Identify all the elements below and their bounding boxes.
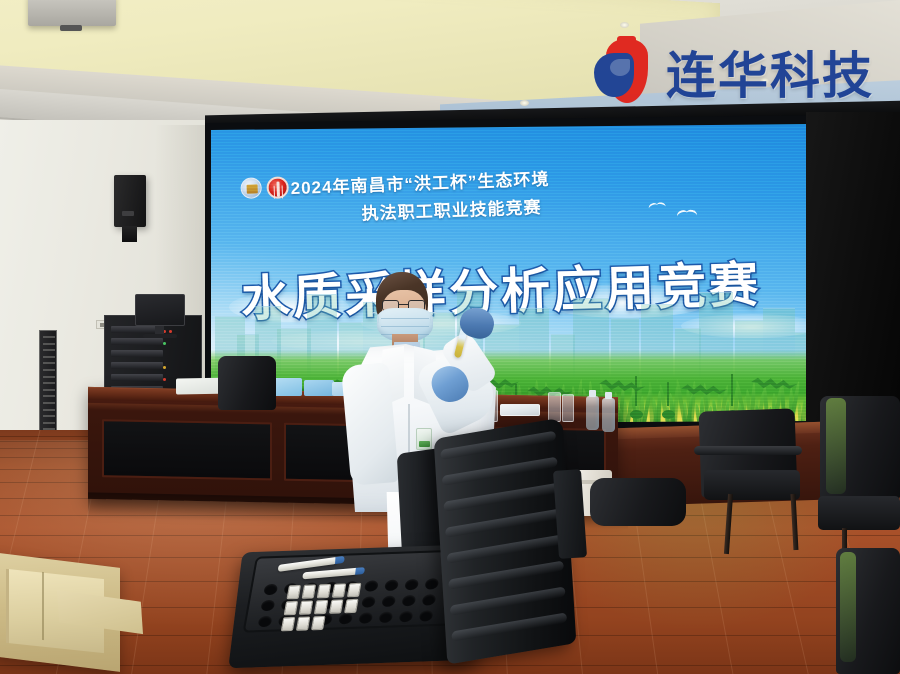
chair-seat xyxy=(704,470,800,500)
downlight-icon xyxy=(620,22,629,28)
screen-header-block: 2024年南昌市“洪工杯”生态环境 执法职工职业技能竞赛 xyxy=(232,156,794,229)
vent-slat xyxy=(43,369,55,371)
lid-rib xyxy=(443,483,559,512)
foam-slot xyxy=(384,580,399,591)
cardboard-box-crease xyxy=(42,572,44,640)
case-foam-insert xyxy=(243,549,470,632)
vent-slat xyxy=(43,362,55,364)
foam-slot xyxy=(258,616,273,627)
sample-vial[interactable] xyxy=(344,599,359,613)
foam-slot xyxy=(401,595,416,606)
right-dark-curtain xyxy=(806,112,900,442)
foam-slot xyxy=(364,580,379,591)
sample-vial[interactable] xyxy=(332,583,347,597)
chair-green-reflection xyxy=(840,552,856,662)
mask-strap xyxy=(370,312,379,327)
water-bottle xyxy=(602,398,615,432)
ceiling-projector xyxy=(28,0,116,26)
chair-seat xyxy=(818,496,900,530)
vent-slat xyxy=(43,343,55,345)
sample-vial[interactable] xyxy=(284,601,299,615)
foam-slot xyxy=(419,610,434,621)
plant-stem xyxy=(667,382,669,406)
watermark-logo: 连华科技 xyxy=(592,34,892,110)
pipette-tip xyxy=(355,567,365,575)
sample-vial[interactable] xyxy=(311,616,326,630)
vent-slat xyxy=(43,382,55,384)
plant-head xyxy=(662,410,675,419)
sample-vial[interactable] xyxy=(299,600,314,614)
podium-panel xyxy=(102,419,272,480)
wall-speaker xyxy=(114,175,146,227)
rack-unit xyxy=(111,362,163,369)
rack-unit xyxy=(111,338,163,345)
vent-slat xyxy=(43,389,55,391)
foam-slot xyxy=(263,584,278,595)
pipette[interactable] xyxy=(302,568,358,580)
lid-rib xyxy=(445,509,561,538)
vent-slat xyxy=(43,356,55,358)
sample-vial[interactable] xyxy=(296,616,311,630)
sample-vial[interactable] xyxy=(281,617,296,631)
chair-green-reflection xyxy=(826,398,846,494)
mask-strap xyxy=(430,312,439,327)
chair-back xyxy=(218,356,276,410)
glasses-bridge xyxy=(399,304,408,305)
foam-slot xyxy=(378,612,393,623)
vent-slat xyxy=(43,402,55,404)
watermark-brand-text: 连华科技 xyxy=(666,36,874,108)
foam-slot xyxy=(398,611,413,622)
rack-led-icon xyxy=(163,378,166,381)
foam-slot xyxy=(338,613,353,624)
speaker-bracket xyxy=(122,226,137,242)
monitor-base xyxy=(143,334,177,338)
foam-slot xyxy=(381,596,396,607)
foam-slot xyxy=(361,596,376,607)
plant-head xyxy=(630,410,643,419)
lid-rib xyxy=(440,431,556,460)
vent-slat xyxy=(43,349,55,351)
lianhua-flask-logo-icon xyxy=(592,39,656,105)
swirl-shape xyxy=(594,53,634,97)
rack-unit xyxy=(111,374,163,381)
lid-rib xyxy=(447,535,563,564)
av-monitor xyxy=(135,294,185,326)
lab-glassware xyxy=(562,394,574,422)
chair-back xyxy=(590,478,686,526)
lid-rib xyxy=(442,457,558,486)
rack-led-icon xyxy=(163,342,166,345)
pipette-tip xyxy=(335,556,345,564)
chair-armrest xyxy=(694,446,802,455)
plant-stem xyxy=(731,374,733,406)
vent-slat xyxy=(43,376,55,378)
vent-slat xyxy=(43,336,55,338)
plant-stem xyxy=(635,376,637,406)
rack-led-icon xyxy=(163,366,166,369)
sample-vial[interactable] xyxy=(302,584,317,598)
id-badge xyxy=(416,428,432,450)
water-bottle xyxy=(586,396,599,430)
foam-slot xyxy=(421,594,436,605)
foam-slot xyxy=(424,578,439,589)
sample-vial[interactable] xyxy=(314,600,329,614)
case-lid xyxy=(434,417,577,664)
foam-slot xyxy=(260,600,275,611)
lid-rib xyxy=(450,586,566,615)
foam-slot xyxy=(404,579,419,590)
vent-slat xyxy=(43,409,55,411)
sample-vial[interactable] xyxy=(347,583,362,597)
lab-glassware xyxy=(548,392,561,422)
rack-led-icon xyxy=(169,330,172,333)
sample-vial[interactable] xyxy=(329,599,344,613)
foam-slot xyxy=(358,612,373,623)
sample-vial[interactable] xyxy=(317,584,332,598)
lid-rib xyxy=(448,560,564,589)
vent-slat xyxy=(43,415,55,417)
downlight-icon xyxy=(520,100,529,106)
vent-slat xyxy=(43,422,55,424)
lid-rib xyxy=(451,612,567,641)
sample-vial[interactable] xyxy=(286,585,301,599)
floor-seam xyxy=(0,665,900,666)
rack-unit xyxy=(111,350,163,357)
vent-slat xyxy=(43,395,55,397)
photo-scene: 2024年南昌市“洪工杯”生态环境 执法职工职业技能竞赛 水质采样分析应用竞赛 xyxy=(0,0,900,674)
